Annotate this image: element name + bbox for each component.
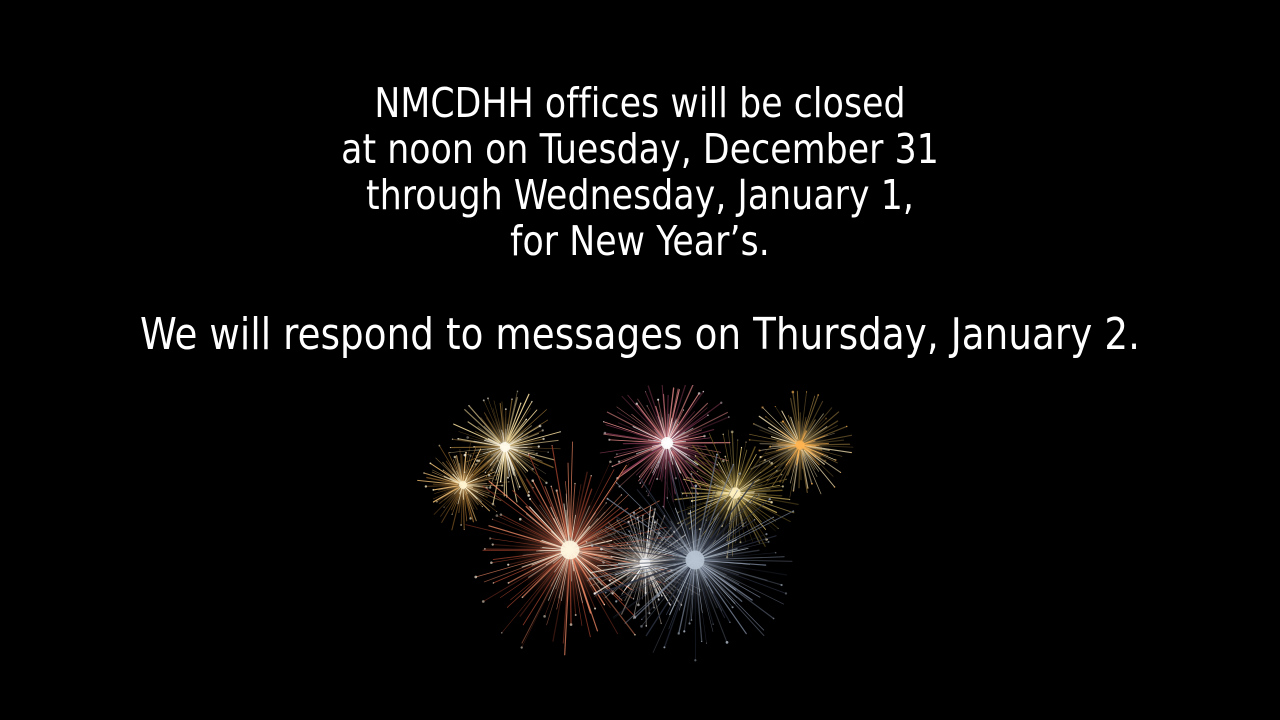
announcement-blank-line	[38, 264, 1241, 310]
fireworks-photo	[405, 385, 876, 709]
fireworks-illustration	[405, 385, 876, 709]
announcement-text-block: NMCDHH offices will be closed at noon on…	[0, 80, 1280, 360]
announcement-line-3: through Wednesday, January 1,	[38, 172, 1241, 218]
announcement-line-1: NMCDHH offices will be closed	[38, 80, 1241, 126]
announcement-line-2: at noon on Tuesday, December 31	[38, 126, 1241, 172]
announcement-line-6: We will respond to messages on Thursday,…	[38, 310, 1241, 360]
announcement-line-4: for New Year’s.	[38, 218, 1241, 264]
slide-canvas: NMCDHH offices will be closed at noon on…	[0, 0, 1280, 720]
